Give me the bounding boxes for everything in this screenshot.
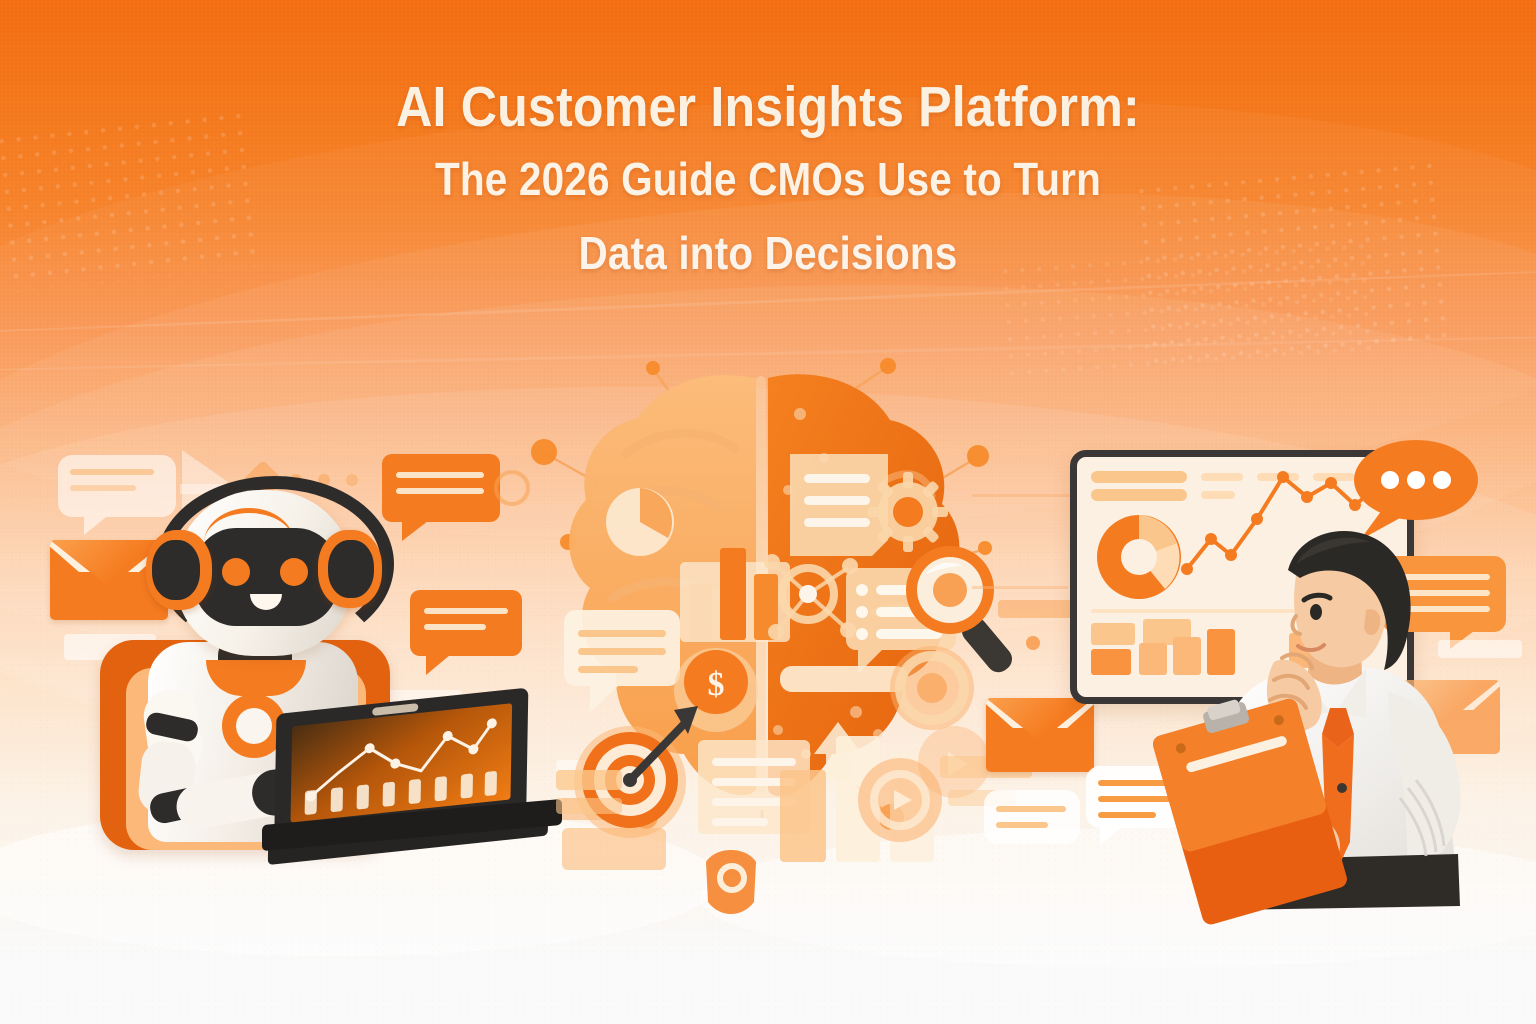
pale-chat-bubble-left — [58, 455, 176, 517]
accent-dot-3 — [346, 474, 358, 486]
hero-banner: AI Customer Insights Platform: The 2026 … — [0, 0, 1536, 1024]
envelope-icon — [986, 698, 1094, 772]
title-line-2: The 2026 Guide CMOs Use to Turn — [92, 142, 1444, 216]
pale-chat-bubble-2 — [984, 790, 1080, 844]
title-line-3: Data into Decisions — [92, 216, 1444, 290]
hero-title-block: AI Customer Insights Platform: The 2026 … — [0, 72, 1536, 290]
brain-chip-1 — [556, 770, 622, 790]
circle-accent-left — [494, 470, 530, 506]
svg-text:$: $ — [708, 666, 725, 703]
cmo-executive — [1170, 512, 1500, 912]
chat-bubble-icon — [410, 590, 522, 656]
chat-bubble-icon — [382, 454, 500, 522]
robot-headphone-earpad-right — [328, 540, 374, 598]
robot-chest-emblem-inner — [236, 708, 272, 744]
title-line-1: AI Customer Insights Platform: — [92, 72, 1444, 142]
accent-dot-4 — [1026, 636, 1040, 650]
robot-visor — [194, 528, 338, 626]
pale-chip-6 — [998, 600, 1076, 618]
brain-chip-3 — [562, 828, 666, 870]
robot-eye-right — [280, 558, 308, 586]
robot-eye-left — [222, 558, 250, 586]
brain-chip-2 — [556, 798, 622, 814]
connector-line-2 — [972, 586, 1068, 589]
robot-headphone-earpad-left — [152, 540, 200, 600]
